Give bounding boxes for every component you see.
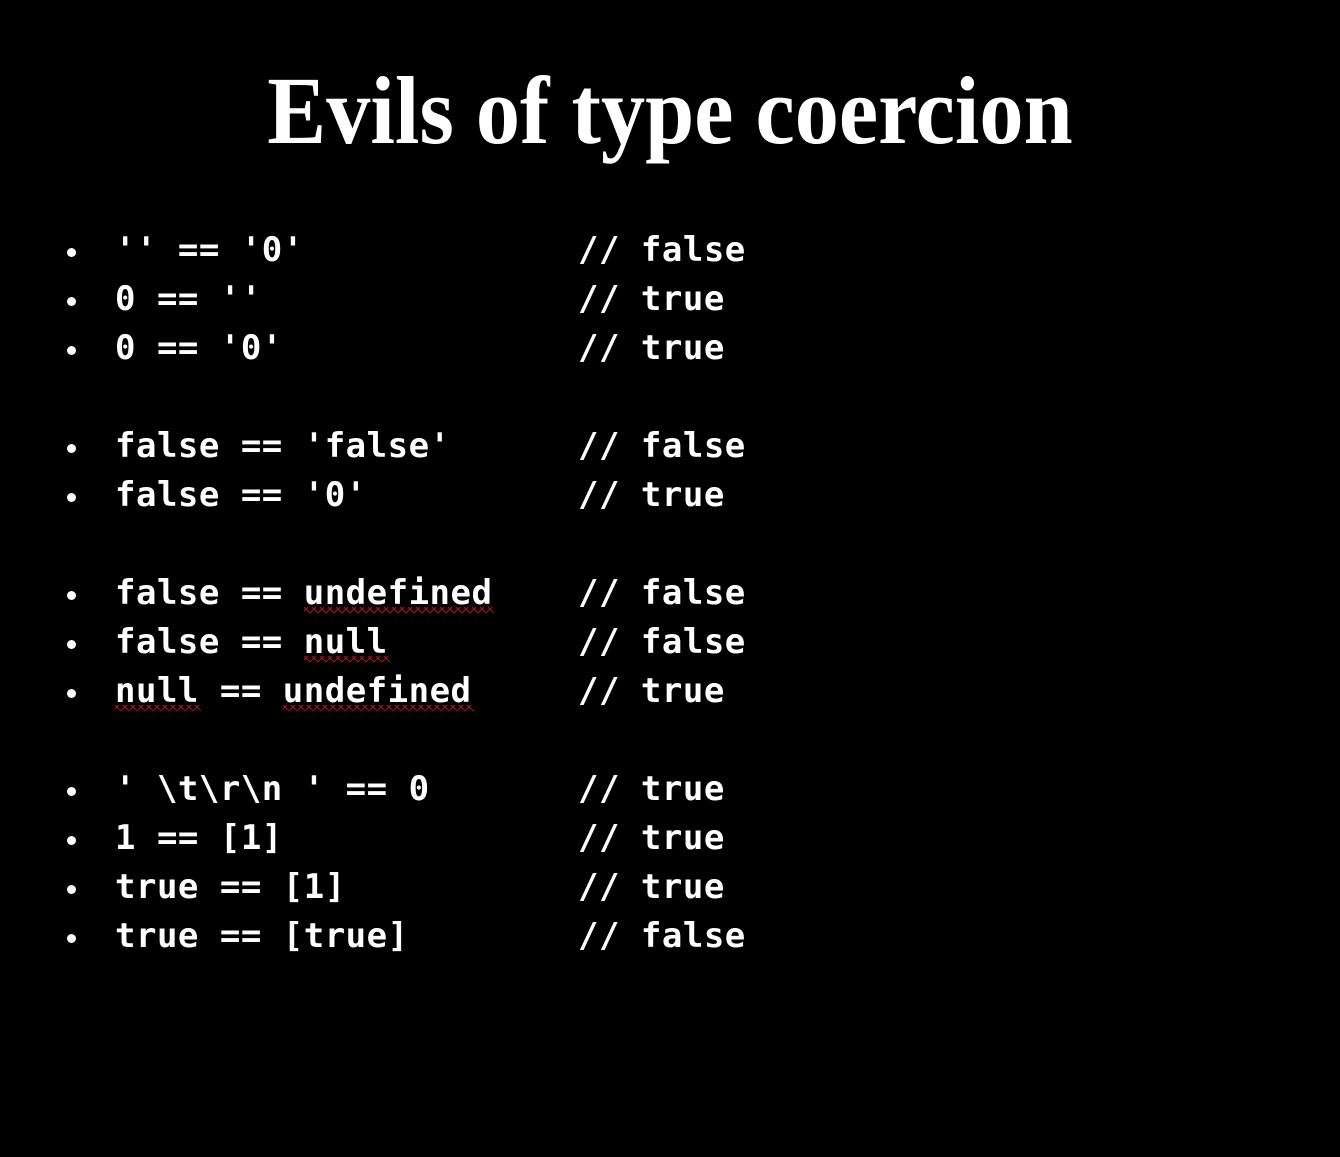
- code-comment: // true: [578, 471, 725, 520]
- code-expression: true == [true]: [115, 912, 409, 961]
- list-item: false == null // false: [60, 618, 1260, 667]
- code-expression: false == undefined: [115, 569, 492, 618]
- list-item: 0 == '0' // true: [60, 324, 1260, 373]
- code-expression: false == 'false': [115, 422, 451, 471]
- bullet-icon: [67, 444, 76, 453]
- code-expression: '' == '0': [115, 226, 304, 275]
- code-expression: false == null: [115, 618, 388, 667]
- code-expression: true == [1]: [115, 863, 346, 912]
- list-item: false == '0' // true: [60, 471, 1260, 520]
- code-comment: // true: [578, 814, 725, 863]
- code-expression: false == '0': [115, 471, 367, 520]
- code-group-whitespace-array: ' \t\r\n ' == 0 // true 1 == [1] // true…: [60, 765, 1260, 961]
- code-group-boolean-string: false == 'false' // false false == '0' /…: [60, 422, 1260, 520]
- code-comment: // true: [578, 324, 725, 373]
- misspelled-word: undefined: [304, 569, 493, 618]
- list-item: true == [true] // false: [60, 912, 1260, 961]
- code-comment: // false: [578, 226, 746, 275]
- list-item: 0 == '' // true: [60, 275, 1260, 324]
- bullet-icon: [67, 591, 76, 600]
- code-comment: // false: [578, 422, 746, 471]
- code-comment: // true: [578, 765, 725, 814]
- bullet-icon: [67, 640, 76, 649]
- code-group-null-undefined: false == undefined // false false == nul…: [60, 569, 1260, 716]
- code-example-list: '' == '0' // false 0 == '' // true 0 == …: [60, 226, 1260, 961]
- code-comment: // false: [578, 912, 746, 961]
- code-expression: 0 == '': [115, 275, 262, 324]
- bullet-icon: [67, 346, 76, 355]
- code-operator: ==: [199, 671, 283, 711]
- list-item: 1 == [1] // true: [60, 814, 1260, 863]
- bullet-icon: [67, 934, 76, 943]
- code-comment: // false: [578, 569, 746, 618]
- list-item: null == undefined // true: [60, 667, 1260, 716]
- code-group-string-number: '' == '0' // false 0 == '' // true 0 == …: [60, 226, 1260, 373]
- misspelled-word: null: [304, 618, 388, 667]
- list-item: '' == '0' // false: [60, 226, 1260, 275]
- code-expression: ' \t\r\n ' == 0: [115, 765, 430, 814]
- code-expression: null == undefined: [115, 667, 472, 716]
- misspelled-word: undefined: [283, 667, 472, 716]
- list-item: false == undefined // false: [60, 569, 1260, 618]
- misspelled-word: null: [115, 667, 199, 716]
- list-item: true == [1] // true: [60, 863, 1260, 912]
- code-prefix: false ==: [115, 573, 304, 613]
- code-prefix: false ==: [115, 622, 304, 662]
- code-comment: // false: [578, 618, 746, 667]
- bullet-icon: [67, 836, 76, 845]
- page-title: Evils of type coercion: [54, 55, 1287, 167]
- bullet-icon: [67, 493, 76, 502]
- bullet-icon: [67, 248, 76, 257]
- code-comment: // true: [578, 667, 725, 716]
- bullet-icon: [67, 885, 76, 894]
- code-comment: // true: [578, 275, 725, 324]
- bullet-icon: [67, 297, 76, 306]
- list-item: ' \t\r\n ' == 0 // true: [60, 765, 1260, 814]
- bullet-icon: [67, 689, 76, 698]
- code-expression: 0 == '0': [115, 324, 283, 373]
- code-comment: // true: [578, 863, 725, 912]
- list-item: false == 'false' // false: [60, 422, 1260, 471]
- bullet-icon: [67, 787, 76, 796]
- code-expression: 1 == [1]: [115, 814, 283, 863]
- slide: Evils of type coercion '' == '0' // fals…: [0, 0, 1340, 1018]
